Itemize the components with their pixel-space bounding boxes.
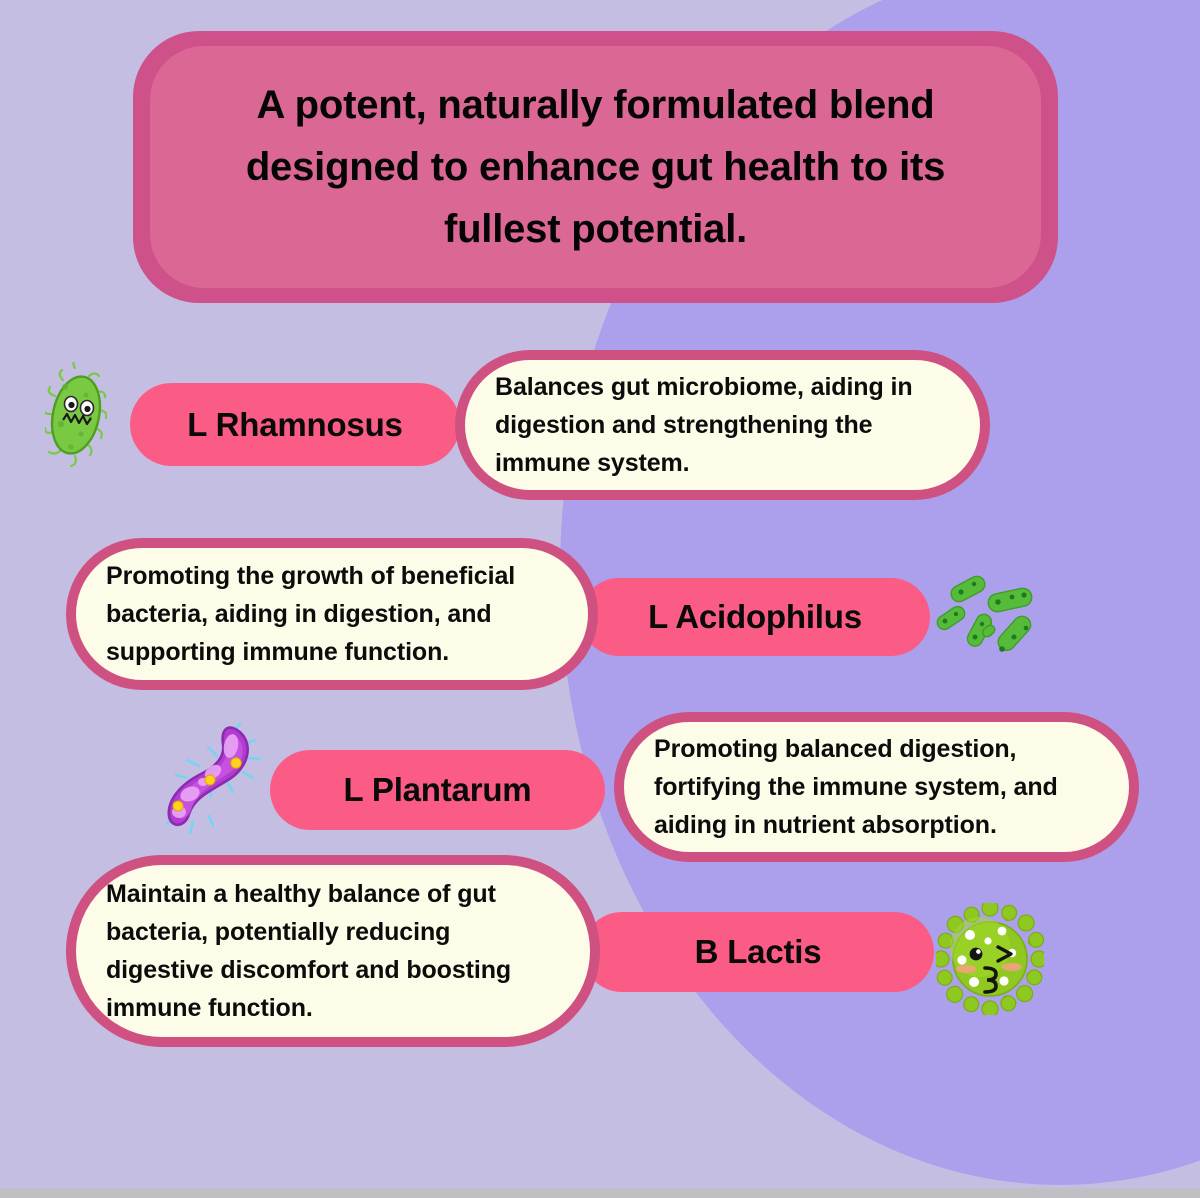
title-card-inner: A potent, naturally formulated blend des… — [150, 46, 1041, 288]
infographic-poster: A potent, naturally formulated blend des… — [0, 0, 1200, 1198]
strain-name-label: L Rhamnosus — [187, 406, 402, 444]
strain-description-text: Balances gut microbiome, aiding in diges… — [465, 368, 980, 482]
strain-name-label: L Plantarum — [344, 771, 532, 809]
strain-description-text: Promoting balanced digestion, fortifying… — [624, 730, 1129, 844]
strain-description-card-b-lactis: Maintain a healthy balance of gut bacter… — [66, 855, 600, 1047]
strain-description-text: Maintain a healthy balance of gut bacter… — [76, 875, 590, 1027]
strain-pill-l-plantarum[interactable]: L Plantarum — [270, 750, 605, 830]
strain-name-label: B Lactis — [695, 933, 822, 971]
strain-description-card-inner: Promoting the growth of beneficial bacte… — [76, 548, 588, 680]
green-bacilli-cluster-icon — [934, 575, 1038, 665]
strain-description-card-l-acidophilus: Promoting the growth of beneficial bacte… — [66, 538, 598, 690]
strain-pill-l-rhamnosus[interactable]: L Rhamnosus — [130, 383, 460, 466]
page-title: A potent, naturally formulated blend des… — [196, 74, 995, 260]
green-virus-face-icon — [936, 903, 1044, 1015]
strain-description-text: Promoting the growth of beneficial bacte… — [76, 557, 588, 671]
strain-description-card-l-rhamnosus: Balances gut microbiome, aiding in diges… — [455, 350, 990, 500]
strain-description-card-inner: Balances gut microbiome, aiding in diges… — [465, 360, 980, 490]
strain-description-card-inner: Maintain a healthy balance of gut bacter… — [76, 865, 590, 1037]
strain-description-card-l-plantarum: Promoting balanced digestion, fortifying… — [614, 712, 1139, 862]
strain-description-card-inner: Promoting balanced digestion, fortifying… — [624, 722, 1129, 852]
strain-name-label: L Acidophilus — [648, 598, 862, 636]
title-card: A potent, naturally formulated blend des… — [133, 31, 1058, 303]
strain-pill-b-lactis[interactable]: B Lactis — [582, 912, 934, 992]
strain-pill-l-acidophilus[interactable]: L Acidophilus — [580, 578, 930, 656]
purple-curved-bacillus-icon — [165, 722, 263, 834]
green-bacillus-face-icon — [45, 362, 107, 470]
bottom-strip — [0, 1188, 1200, 1198]
